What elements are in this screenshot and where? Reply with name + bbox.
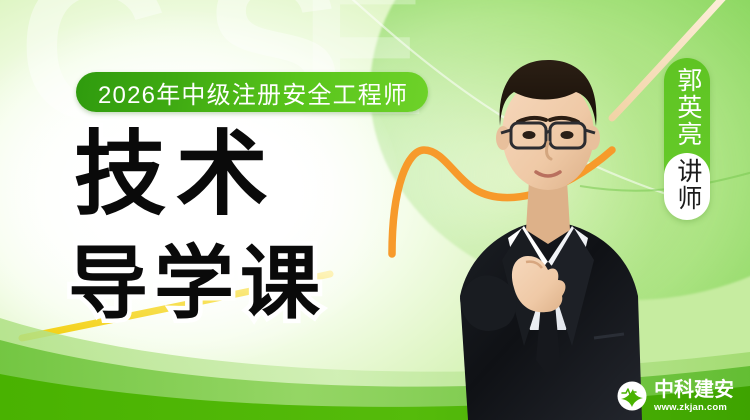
instructor-badge: 郭英亮 讲师 bbox=[664, 58, 710, 220]
instructor-name: 郭英亮 bbox=[674, 67, 700, 148]
instructor-role-pill: 讲师 bbox=[664, 153, 710, 220]
brand-url: www.zkjan.com bbox=[654, 403, 734, 413]
brand-logo: 中科建安 www.zkjan.com bbox=[617, 380, 734, 413]
instructor-portrait bbox=[398, 30, 698, 420]
brand-name: 中科建安 bbox=[654, 380, 734, 400]
course-category-label: 2026年中级注册安全工程师 bbox=[98, 75, 408, 110]
instructor-role: 讲师 bbox=[674, 158, 700, 212]
course-poster: CS E bbox=[0, 0, 750, 420]
course-category-badge: 2026年中级注册安全工程师 bbox=[76, 72, 428, 112]
eye-right bbox=[561, 131, 574, 139]
zkjan-logo-icon bbox=[617, 381, 647, 411]
eye-left bbox=[523, 131, 536, 139]
brand-logo-text: 中科建安 www.zkjan.com bbox=[654, 380, 734, 413]
page-title: 技术 bbox=[74, 129, 278, 221]
page-subtitle: 导学课 bbox=[68, 244, 326, 324]
